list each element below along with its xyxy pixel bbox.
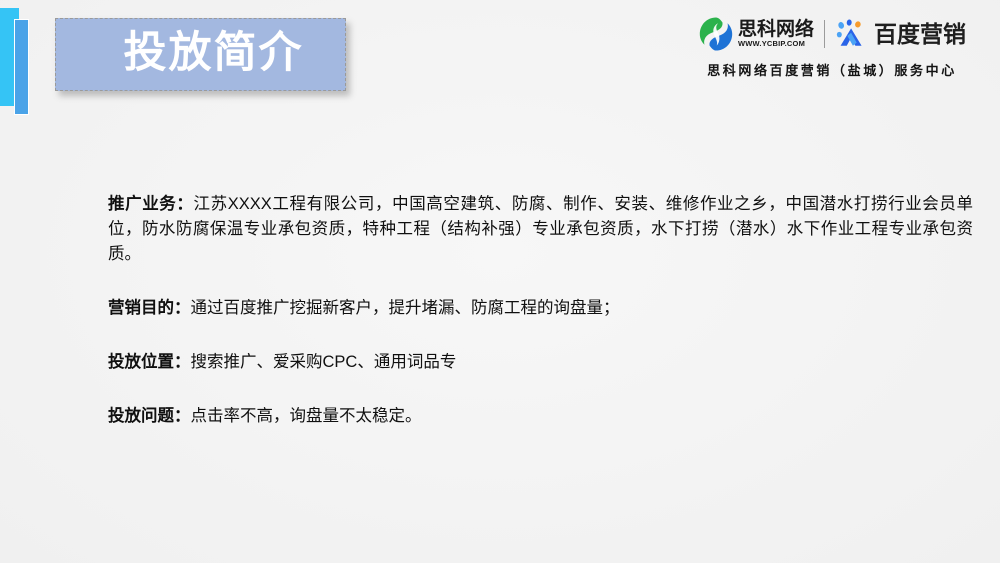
paragraph-value: 搜索推广、爱采购CPC、通用词品专 — [191, 353, 457, 371]
brand-lockup: 思科网络 WWW.YCBIP.COM 百度营销 思科网络百度营销（盐城）服务中心 — [672, 14, 992, 79]
slide-title-box: 投放简介 — [55, 18, 346, 91]
paragraph-separator: ： — [174, 299, 191, 317]
content-paragraph: 投放问题：点击率不高，询盘量不太稳定。 — [108, 404, 973, 429]
decorative-blue-bar — [14, 19, 29, 115]
paragraph-label: 投放位置 — [108, 353, 174, 371]
sike-wordmark: 思科网络 WWW.YCBIP.COM — [738, 20, 814, 48]
baidu-brand-name: 百度营销 — [874, 23, 966, 46]
sike-brand-name: 思科网络 — [738, 20, 814, 40]
sike-network-logo: 思科网络 WWW.YCBIP.COM — [698, 16, 814, 52]
paragraph-value: 江苏XXXX工程有限公司，中国高空建筑、防腐、制作、安装、维修作业之乡，中国潜水… — [108, 195, 973, 263]
content-paragraph: 投放位置：搜索推广、爱采购CPC、通用词品专 — [108, 350, 973, 375]
paragraph-value: 点击率不高，询盘量不太稳定。 — [191, 407, 422, 425]
paragraph-separator: ： — [176, 195, 193, 213]
page-title: 投放简介 — [98, 32, 304, 77]
sike-brand-url: WWW.YCBIP.COM — [738, 40, 814, 48]
brand-logo-row: 思科网络 WWW.YCBIP.COM 百度营销 — [698, 14, 966, 54]
sike-s-emblem-icon — [698, 16, 734, 52]
paragraph-value: 通过百度推广挖掘新客户，提升堵漏、防腐工程的询盘量； — [191, 299, 620, 317]
paragraph-label: 推广业务 — [108, 195, 176, 213]
baidu-paw-icon — [835, 19, 869, 49]
paragraph-label: 投放问题 — [108, 407, 174, 425]
paragraph-separator: ： — [174, 353, 191, 371]
content-paragraph: 营销目的：通过百度推广挖掘新客户，提升堵漏、防腐工程的询盘量； — [108, 296, 973, 321]
brand-divider — [824, 20, 825, 48]
body-content: 推广业务：江苏XXXX工程有限公司，中国高空建筑、防腐、制作、安装、维修作业之乡… — [108, 192, 973, 429]
content-paragraph: 推广业务：江苏XXXX工程有限公司，中国高空建筑、防腐、制作、安装、维修作业之乡… — [108, 192, 973, 267]
paragraph-separator: ： — [174, 407, 191, 425]
paragraph-label: 营销目的 — [108, 299, 174, 317]
slide-canvas: 投放简介 思科网络 WWW.YCBIP.COM — [0, 0, 1000, 563]
brand-subtitle: 思科网络百度营销（盐城）服务中心 — [707, 60, 957, 79]
baidu-marketing-logo: 百度营销 — [835, 19, 966, 49]
